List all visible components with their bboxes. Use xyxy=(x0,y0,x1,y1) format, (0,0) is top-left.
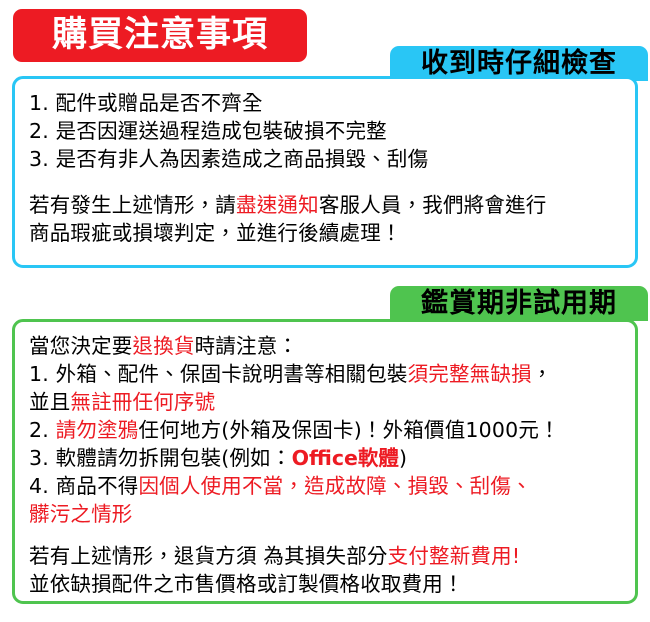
footer-line-2: 並依缺損配件之市售價格或訂製價格收取費用！ xyxy=(29,570,621,598)
intro-text-highlight: 退換貨 xyxy=(133,334,195,358)
intro-text-pre: 當您決定要 xyxy=(29,334,133,358)
item1-line2-highlight: 無註冊任何序號 xyxy=(70,390,215,414)
item2-text-highlight: 請勿塗鴉 xyxy=(56,418,139,442)
list-item-2: 2. 請勿塗鴉任何地方(外箱及保固卡)！外箱價值1000元！ xyxy=(29,416,621,444)
section-tab-inspection-period: 鑑賞期非試用期 xyxy=(390,286,648,321)
list-item: 2. 是否因運送過程造成包裝破損不完整 xyxy=(29,117,621,145)
note-text-post: 客服人員，我們將會進行 xyxy=(319,193,547,217)
list-item-1-continuation: 並且無註冊任何序號 xyxy=(29,388,621,416)
notice-page: 購買注意事項 收到時仔細檢查 1. 配件或贈品是否不齊全 2. 是否因運送過程造… xyxy=(0,0,650,622)
item4-text-pre: 4. 商品不得 xyxy=(29,474,138,498)
list-item-4-continuation: 髒污之情形 xyxy=(29,500,621,528)
list-item: 3. 是否有非人為因素造成之商品損毀、刮傷 xyxy=(29,145,621,173)
section-body-inspect-on-arrival: 1. 配件或贈品是否不齊全 2. 是否因運送過程造成包裝破損不完整 3. 是否有… xyxy=(15,79,635,247)
page-title: 購買注意事項 xyxy=(13,9,307,62)
note-text-pre: 若有發生上述情形，請 xyxy=(29,193,236,217)
item3-text-highlight: Office軟體 xyxy=(292,446,399,470)
list-item-3: 3. 軟體請勿拆開包裝(例如：Office軟體) xyxy=(29,444,621,472)
note-line-1: 若有發生上述情形，請盡速通知客服人員，我們將會進行 xyxy=(29,191,621,219)
list-item-4: 4. 商品不得因個人使用不當，造成故障、損毀、刮傷、 xyxy=(29,472,621,500)
footer-text-pre: 若有上述情形，退貨方須 為其損失部分 xyxy=(29,544,388,568)
list-item-1: 1. 外箱、配件、保固卡說明書等相關包裝須完整無缺損， xyxy=(29,360,621,388)
section-box-inspect-on-arrival: 1. 配件或贈品是否不齊全 2. 是否因運送過程造成包裝破損不完整 3. 是否有… xyxy=(12,76,638,268)
note-line-2: 商品瑕疵或損壞判定，並進行後續處理！ xyxy=(29,219,621,247)
list-item: 1. 配件或贈品是否不齊全 xyxy=(29,89,621,117)
item4-line2-highlight: 髒污之情形 xyxy=(29,502,133,526)
item2-text-pre: 2. xyxy=(29,418,56,442)
paragraph-spacer xyxy=(29,528,621,542)
note-text-highlight: 盡速通知 xyxy=(236,193,319,217)
item1-line2-pre: 並且 xyxy=(29,390,70,414)
footer-line-1: 若有上述情形，退貨方須 為其損失部分支付整新費用! xyxy=(29,542,621,570)
item2-text-post: 任何地方(外箱及保固卡)！外箱價值1000元！ xyxy=(139,418,560,442)
section-body-inspection-period: 當您決定要退換貨時請注意： 1. 外箱、配件、保固卡說明書等相關包裝須完整無缺損… xyxy=(15,322,635,598)
intro-line: 當您決定要退換貨時請注意： xyxy=(29,332,621,360)
item3-text-post: ) xyxy=(399,446,407,470)
item1-text-pre: 1. 外箱、配件、保固卡說明書等相關包裝 xyxy=(29,362,408,386)
item1-text-highlight: 須完整無缺損 xyxy=(408,362,532,386)
item3-text-pre: 3. 軟體請勿拆開包裝(例如： xyxy=(29,446,292,470)
intro-text-post: 時請注意： xyxy=(195,334,299,358)
item1-text-post: ， xyxy=(532,362,553,386)
footer-text-highlight: 支付整新費用! xyxy=(388,544,521,568)
item4-text-highlight: 因個人使用不當，造成故障、損毀、刮傷、 xyxy=(138,474,531,498)
section-box-inspection-period: 當您決定要退換貨時請注意： 1. 外箱、配件、保固卡說明書等相關包裝須完整無缺損… xyxy=(12,319,638,604)
paragraph-spacer xyxy=(29,173,621,191)
